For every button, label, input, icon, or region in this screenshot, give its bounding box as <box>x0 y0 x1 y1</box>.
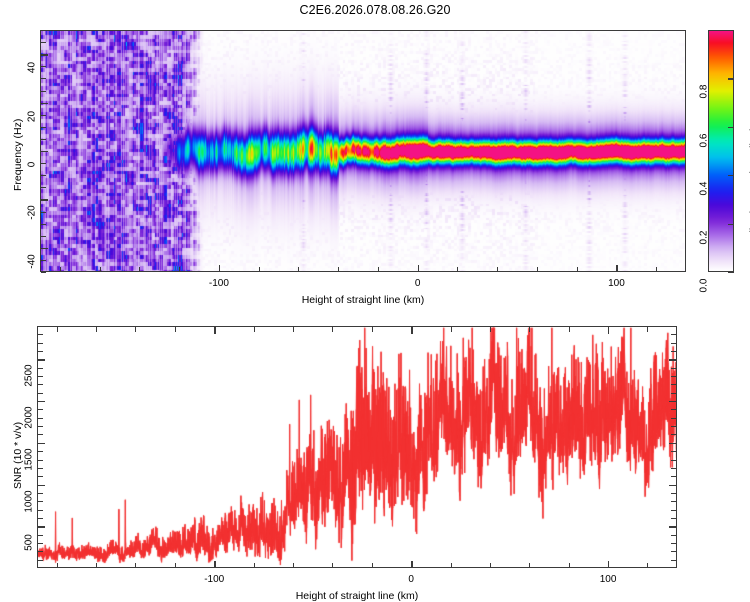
axis-tick <box>41 187 46 188</box>
axis-tick <box>728 175 734 176</box>
axis-tick <box>656 267 657 272</box>
axis-tick-label: 100 <box>588 574 628 585</box>
axis-tick <box>671 426 676 427</box>
axis-tick <box>293 327 294 332</box>
axis-tick <box>671 393 676 394</box>
axis-tick-label: 0 <box>27 150 38 180</box>
spectrogram-y-axis-label: Frequency (Hz) <box>12 119 24 191</box>
axis-tick <box>38 485 45 486</box>
axis-tick-label: 0 <box>391 574 431 585</box>
colorbar-tick-label: 0.2 <box>699 222 710 252</box>
axis-tick <box>41 30 46 31</box>
axis-tick <box>38 560 43 561</box>
axis-tick <box>214 327 215 334</box>
axis-tick-label: 2500 <box>24 358 35 394</box>
axis-tick <box>728 127 734 128</box>
axis-tick <box>38 518 43 519</box>
axis-tick <box>38 426 43 427</box>
axis-tick <box>38 535 43 536</box>
axis-tick <box>38 359 45 360</box>
axis-tick <box>38 543 43 544</box>
axis-tick <box>497 267 498 272</box>
axis-tick <box>41 91 46 92</box>
axis-tick <box>569 327 570 332</box>
snr-y-axis-label: SNR (10 * v/v) <box>12 422 24 489</box>
axis-tick <box>671 409 676 410</box>
axis-tick <box>41 163 46 164</box>
axis-tick <box>100 267 101 272</box>
axis-tick <box>671 384 676 385</box>
axis-tick <box>671 368 676 369</box>
snr-trace <box>38 327 677 568</box>
axis-tick-label: 1000 <box>24 483 35 519</box>
axis-tick <box>38 393 43 394</box>
axis-tick-label: 20 <box>27 101 38 131</box>
axis-tick <box>135 327 136 332</box>
axis-tick <box>139 267 140 272</box>
axis-tick <box>38 460 43 461</box>
axis-tick <box>577 267 578 272</box>
axis-tick <box>38 551 43 552</box>
colorbar <box>708 30 734 272</box>
axis-tick <box>57 327 58 332</box>
axis-tick <box>671 493 676 494</box>
axis-tick <box>38 334 43 335</box>
axis-tick <box>38 526 45 527</box>
axis-tick <box>669 401 676 402</box>
axis-tick <box>38 476 43 477</box>
axis-tick <box>411 327 412 334</box>
axis-tick <box>378 267 379 272</box>
axis-tick <box>293 563 294 568</box>
axis-tick <box>647 563 648 568</box>
axis-tick <box>38 451 43 452</box>
axis-tick <box>254 327 255 332</box>
spectrogram-image <box>41 31 686 272</box>
axis-tick <box>671 351 676 352</box>
axis-tick-label: -100 <box>199 278 239 289</box>
axis-tick <box>179 267 180 272</box>
axis-tick <box>38 376 43 377</box>
axis-tick <box>490 563 491 568</box>
axis-tick <box>38 510 43 511</box>
axis-tick <box>411 561 412 568</box>
axis-tick <box>60 267 61 272</box>
axis-tick <box>38 493 43 494</box>
axis-tick <box>219 265 220 272</box>
axis-tick <box>451 563 452 568</box>
axis-tick <box>41 54 48 55</box>
axis-tick <box>669 359 676 360</box>
axis-tick <box>38 384 43 385</box>
axis-tick <box>728 272 734 273</box>
axis-tick <box>41 224 46 225</box>
axis-tick <box>38 409 43 410</box>
axis-tick <box>669 443 676 444</box>
axis-tick <box>38 501 43 502</box>
axis-tick <box>671 476 676 477</box>
axis-tick <box>529 563 530 568</box>
axis-tick <box>38 468 43 469</box>
axis-tick <box>728 224 734 225</box>
axis-tick <box>41 248 48 249</box>
axis-tick <box>38 351 43 352</box>
axis-tick <box>671 418 676 419</box>
axis-tick <box>41 151 48 152</box>
axis-tick <box>671 535 676 536</box>
axis-tick-label: -100 <box>194 574 234 585</box>
axis-tick <box>671 376 676 377</box>
axis-tick <box>671 543 676 544</box>
axis-tick <box>38 343 43 344</box>
axis-tick <box>175 563 176 568</box>
axis-tick-label: 100 <box>596 278 636 289</box>
axis-tick <box>451 327 452 332</box>
axis-tick <box>671 510 676 511</box>
axis-tick <box>669 485 676 486</box>
axis-tick <box>537 267 538 272</box>
axis-tick <box>41 139 46 140</box>
axis-tick-label: 2000 <box>24 400 35 436</box>
axis-tick <box>608 327 609 334</box>
axis-tick <box>490 327 491 332</box>
colorbar-tick-label: 0.8 <box>699 77 710 107</box>
axis-tick <box>608 561 609 568</box>
spectrogram-x-axis-label: Height of straight line (km) <box>0 294 726 306</box>
axis-tick <box>616 265 617 272</box>
axis-tick <box>38 401 45 402</box>
axis-tick <box>457 267 458 272</box>
colorbar-gradient <box>709 31 733 271</box>
axis-tick <box>96 327 97 332</box>
axis-tick <box>41 103 48 104</box>
axis-tick <box>135 563 136 568</box>
axis-tick <box>41 127 46 128</box>
axis-tick <box>96 563 97 568</box>
page-title: C2E6.2026.078.08.26.G20 <box>0 3 750 17</box>
colorbar-tick-label: 0.0 <box>699 271 710 301</box>
axis-tick <box>671 334 676 335</box>
axis-tick <box>671 551 676 552</box>
axis-tick <box>728 78 734 79</box>
axis-tick <box>41 42 46 43</box>
axis-tick <box>214 561 215 568</box>
colorbar-tick-label: 0.6 <box>699 125 710 155</box>
axis-tick <box>372 563 373 568</box>
snr-x-axis-label: Height of straight line (km) <box>0 590 714 602</box>
axis-tick <box>259 267 260 272</box>
axis-tick <box>41 78 46 79</box>
colorbar-tick-label: 0.4 <box>699 174 710 204</box>
axis-tick-label: -40 <box>27 246 38 276</box>
axis-tick-label: 1500 <box>24 441 35 477</box>
axis-tick <box>671 460 676 461</box>
axis-tick <box>38 434 43 435</box>
axis-tick <box>671 434 676 435</box>
axis-tick-label: 40 <box>27 53 38 83</box>
axis-tick <box>41 260 46 261</box>
axis-tick <box>671 518 676 519</box>
axis-tick <box>671 560 676 561</box>
axis-tick <box>57 563 58 568</box>
axis-tick <box>332 327 333 332</box>
axis-tick <box>647 327 648 332</box>
axis-tick <box>38 443 45 444</box>
axis-tick-label: -20 <box>27 198 38 228</box>
axis-tick <box>254 563 255 568</box>
axis-tick <box>298 267 299 272</box>
axis-tick <box>41 212 46 213</box>
axis-tick <box>41 272 46 273</box>
axis-tick-label: 500 <box>24 525 35 561</box>
axis-tick <box>671 451 676 452</box>
axis-tick <box>41 175 46 176</box>
axis-tick <box>418 265 419 272</box>
axis-tick <box>41 66 46 67</box>
axis-tick <box>529 327 530 332</box>
axis-tick <box>338 267 339 272</box>
spectrogram-plot-area <box>40 30 686 272</box>
axis-tick <box>671 343 676 344</box>
axis-tick <box>671 501 676 502</box>
axis-tick <box>41 199 48 200</box>
axis-tick-label: 0 <box>398 278 438 289</box>
axis-tick <box>671 468 676 469</box>
snr-plot-area <box>37 326 677 568</box>
axis-tick <box>41 236 46 237</box>
axis-tick <box>41 115 46 116</box>
axis-tick <box>38 368 43 369</box>
axis-tick <box>372 327 373 332</box>
axis-tick <box>669 526 676 527</box>
axis-tick <box>569 563 570 568</box>
axis-tick <box>38 418 43 419</box>
axis-tick <box>332 563 333 568</box>
axis-tick <box>175 327 176 332</box>
